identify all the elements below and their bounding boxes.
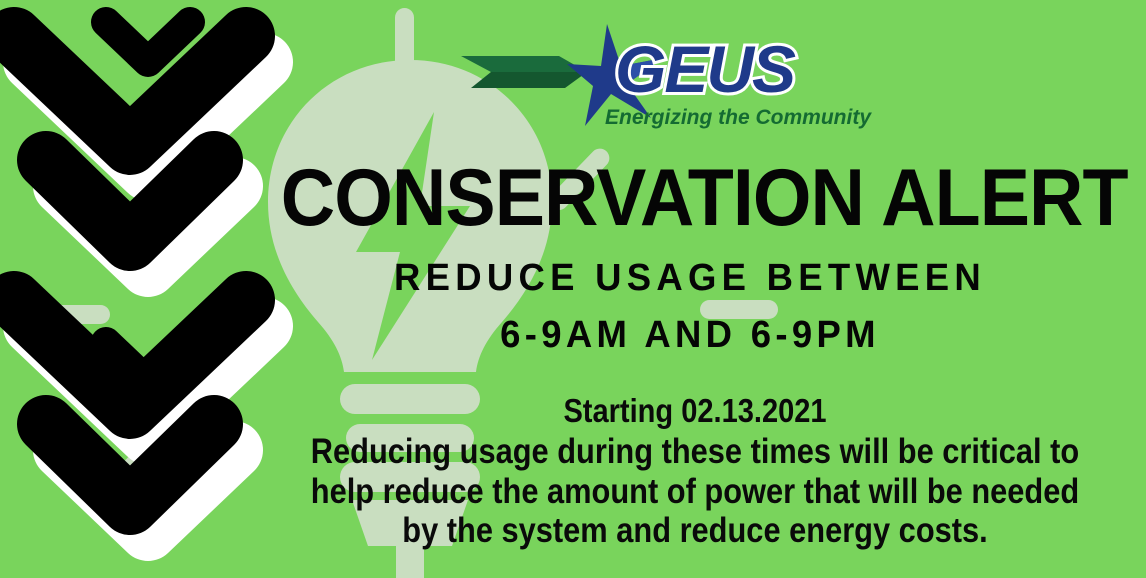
swoosh-icon xyxy=(461,56,587,88)
geus-tagline: Energizing the Community xyxy=(605,106,872,129)
headline-subtitle-line2: 6-9AM AND 6-9PM xyxy=(268,314,1113,357)
paragraph-line-1: Reducing usage during these times will b… xyxy=(308,432,1082,472)
start-date-line: Starting 02.13.2021 xyxy=(308,392,1082,430)
chevron-down-icon xyxy=(14,36,246,146)
chevron-down-icon xyxy=(32,62,264,172)
body-text-block: Starting 02.13.2021 Reducing usage durin… xyxy=(255,392,1135,551)
chevron-down-icon xyxy=(106,22,190,62)
geus-brand-text: GEUS xyxy=(615,32,796,106)
chevron-down-icon xyxy=(14,300,246,410)
headline-block: CONSERVATION ALERT REDUCE USAGE BETWEEN … xyxy=(250,160,1130,357)
chevron-down-icon xyxy=(46,160,214,242)
paragraph-line-2: help reduce the amount of power that wil… xyxy=(308,472,1082,512)
conservation-alert-poster: GEUS Energizing the Community CONSERVATI… xyxy=(0,0,1146,578)
chevron-down-icon xyxy=(62,450,234,532)
chevron-down-icon xyxy=(32,326,264,436)
geus-logo-svg: GEUS Energizing the Community xyxy=(455,22,895,137)
headline-subtitle-line1: REDUCE USAGE BETWEEN xyxy=(268,257,1113,300)
chevron-down-icon xyxy=(46,424,214,506)
geus-logo: GEUS Energizing the Community xyxy=(455,22,895,137)
chevron-down-icon xyxy=(62,186,234,268)
paragraph-line-3: by the system and reduce energy costs. xyxy=(308,511,1082,551)
geus-wordmark: GEUS xyxy=(615,32,796,106)
page-title: CONSERVATION ALERT xyxy=(281,160,1099,237)
chevron-down-icon xyxy=(106,342,190,382)
